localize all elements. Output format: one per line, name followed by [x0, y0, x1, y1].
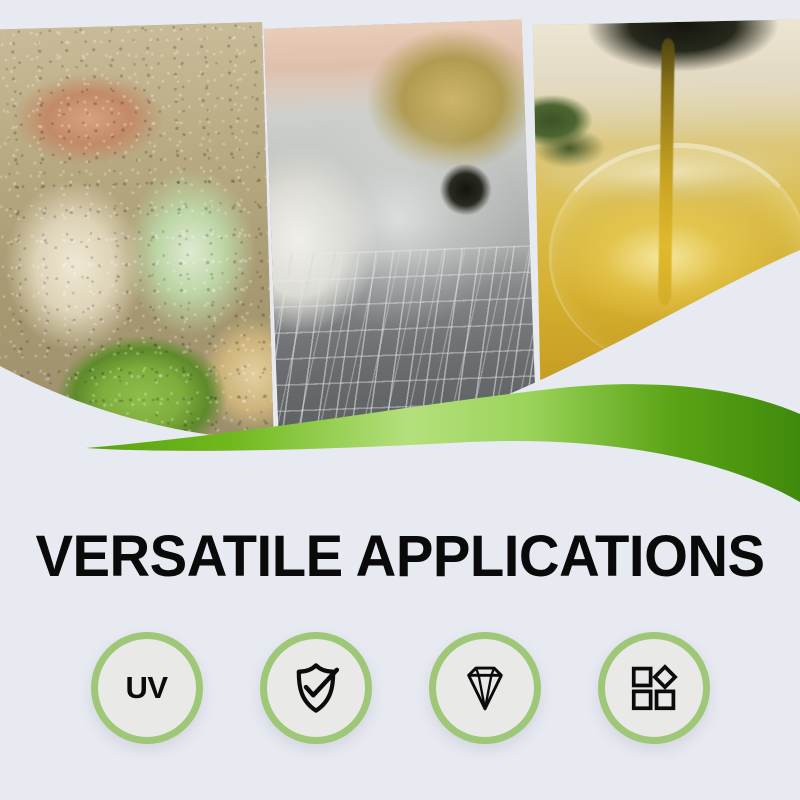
badge-multi-use[interactable]	[598, 632, 710, 744]
olive-oil-photo	[533, 19, 800, 429]
dish-rack-photo	[264, 19, 537, 432]
badge-uv[interactable]: UV	[91, 632, 203, 744]
feature-badge-row: UV	[0, 632, 800, 744]
diamond-gem-icon	[456, 659, 514, 717]
legumes-grain-texture	[0, 22, 274, 450]
shield-check-icon	[287, 659, 345, 717]
uv-text-icon: UV	[125, 670, 167, 706]
badge-protection[interactable]	[260, 632, 372, 744]
page-title: VERSATILE APPLICATIONS	[12, 528, 788, 586]
shapes-grid-icon	[627, 661, 681, 715]
legumes-photo	[0, 22, 274, 450]
dish-rack-wire-texture	[272, 245, 536, 432]
product-feature-banner: VERSATILE APPLICATIONS UV	[0, 0, 800, 800]
photo-collage	[0, 0, 800, 470]
badge-quality[interactable]	[429, 632, 541, 744]
